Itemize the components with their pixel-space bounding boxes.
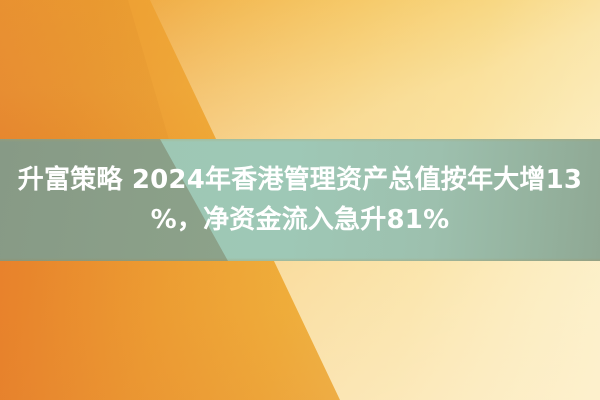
promo-banner: 升富策略 2024年香港管理资产总值按年大增13 %，净资金流入急升81% (0, 0, 600, 400)
headline-line-2: %，净资金流入急升81% (151, 200, 450, 240)
headline-line-1: 升富策略 2024年香港管理资产总值按年大增13 (18, 160, 582, 200)
headline-text-block: 升富策略 2024年香港管理资产总值按年大增13 %，净资金流入急升81% (0, 139, 600, 261)
